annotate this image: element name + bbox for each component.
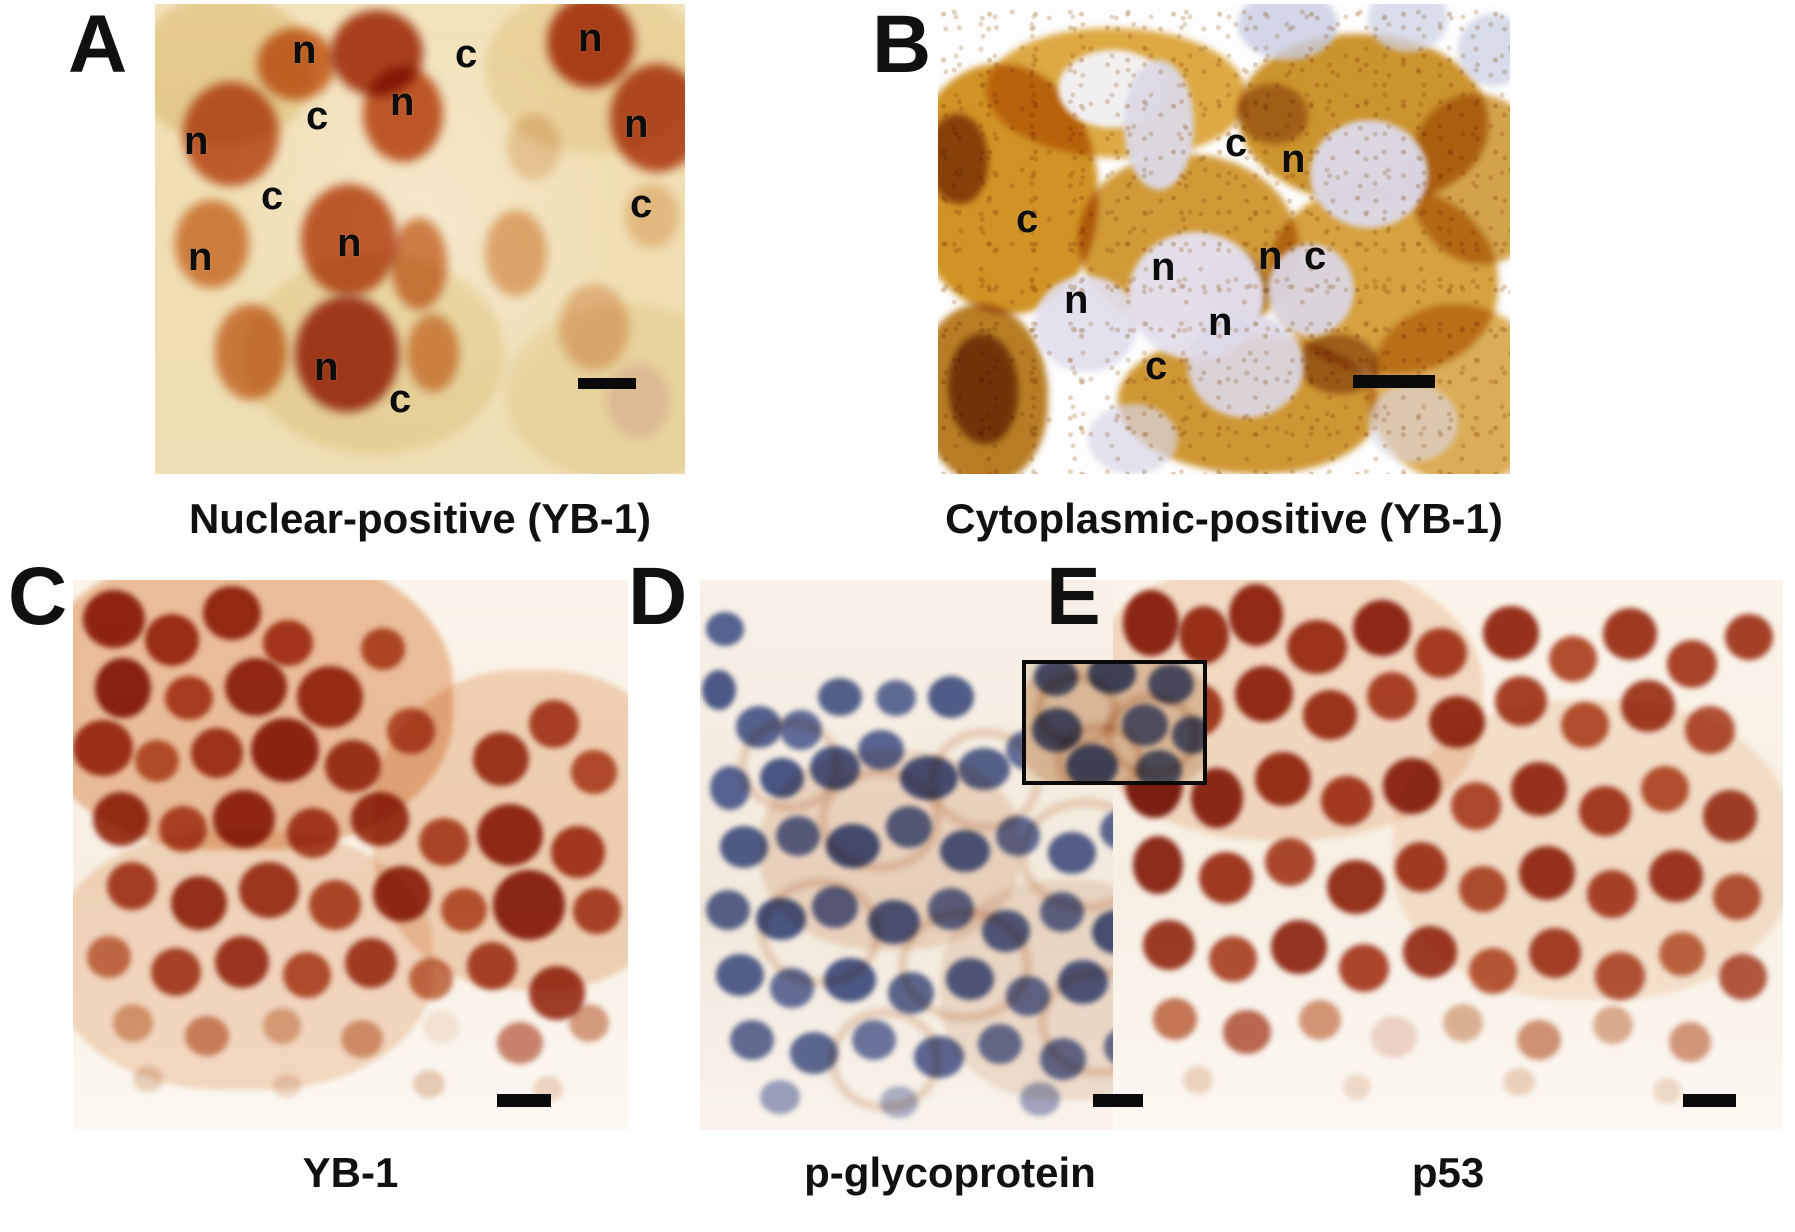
micrograph-e (1113, 580, 1783, 1130)
figure-canvas: A n c n c (0, 0, 1795, 1232)
scale-bar-d (1093, 1094, 1143, 1107)
annotation-nucleus: n (390, 82, 414, 122)
caption-panel-a: Nuclear-positive (YB-1) (155, 498, 685, 540)
annotation-cytoplasm: c (261, 176, 283, 216)
annotation-nucleus: n (624, 104, 648, 144)
annotation-nucleus: n (292, 30, 316, 70)
panel-letter-e: E (1046, 556, 1100, 638)
annotation-nucleus: n (337, 223, 361, 263)
annotation-cytoplasm: c (306, 96, 328, 136)
annotation-cytoplasm: c (1145, 346, 1167, 386)
inset-texture-d (1026, 664, 1203, 781)
annotation-nucleus: n (1258, 236, 1282, 276)
scale-bar-c (497, 1094, 551, 1107)
annotation-nucleus: n (578, 18, 602, 58)
tissue-texture-c (73, 580, 628, 1130)
panel-letter-a: A (68, 4, 126, 86)
scale-bar-a (578, 378, 636, 389)
tissue-texture-a (155, 4, 685, 474)
caption-panel-b: Cytoplasmic-positive (YB-1) (918, 498, 1530, 540)
panel-letter-b: B (872, 4, 930, 86)
annotation-nucleus: n (1208, 302, 1232, 342)
micrograph-c (73, 580, 628, 1130)
inset-box-d (1022, 660, 1207, 785)
caption-panel-c: YB-1 (73, 1152, 628, 1194)
scale-bar-e (1683, 1094, 1736, 1107)
annotation-cytoplasm: c (389, 379, 411, 419)
annotation-cytoplasm: c (455, 34, 477, 74)
caption-panel-e: p53 (1113, 1152, 1783, 1194)
panel-letter-d: D (628, 556, 686, 638)
annotation-nucleus: n (1064, 280, 1088, 320)
annotation-nucleus: n (1151, 247, 1175, 287)
annotation-nucleus: n (314, 347, 338, 387)
annotation-nucleus: n (184, 121, 208, 161)
scale-bar-b (1353, 375, 1435, 388)
annotation-cytoplasm: c (630, 184, 652, 224)
micrograph-a (155, 4, 685, 474)
annotation-cytoplasm: c (1225, 123, 1247, 163)
panel-letter-c: C (8, 556, 66, 638)
annotation-cytoplasm: c (1304, 236, 1326, 276)
annotation-nucleus: n (188, 237, 212, 277)
tissue-texture-e (1113, 580, 1783, 1130)
annotation-nucleus: n (1281, 139, 1305, 179)
annotation-cytoplasm: c (1016, 199, 1038, 239)
